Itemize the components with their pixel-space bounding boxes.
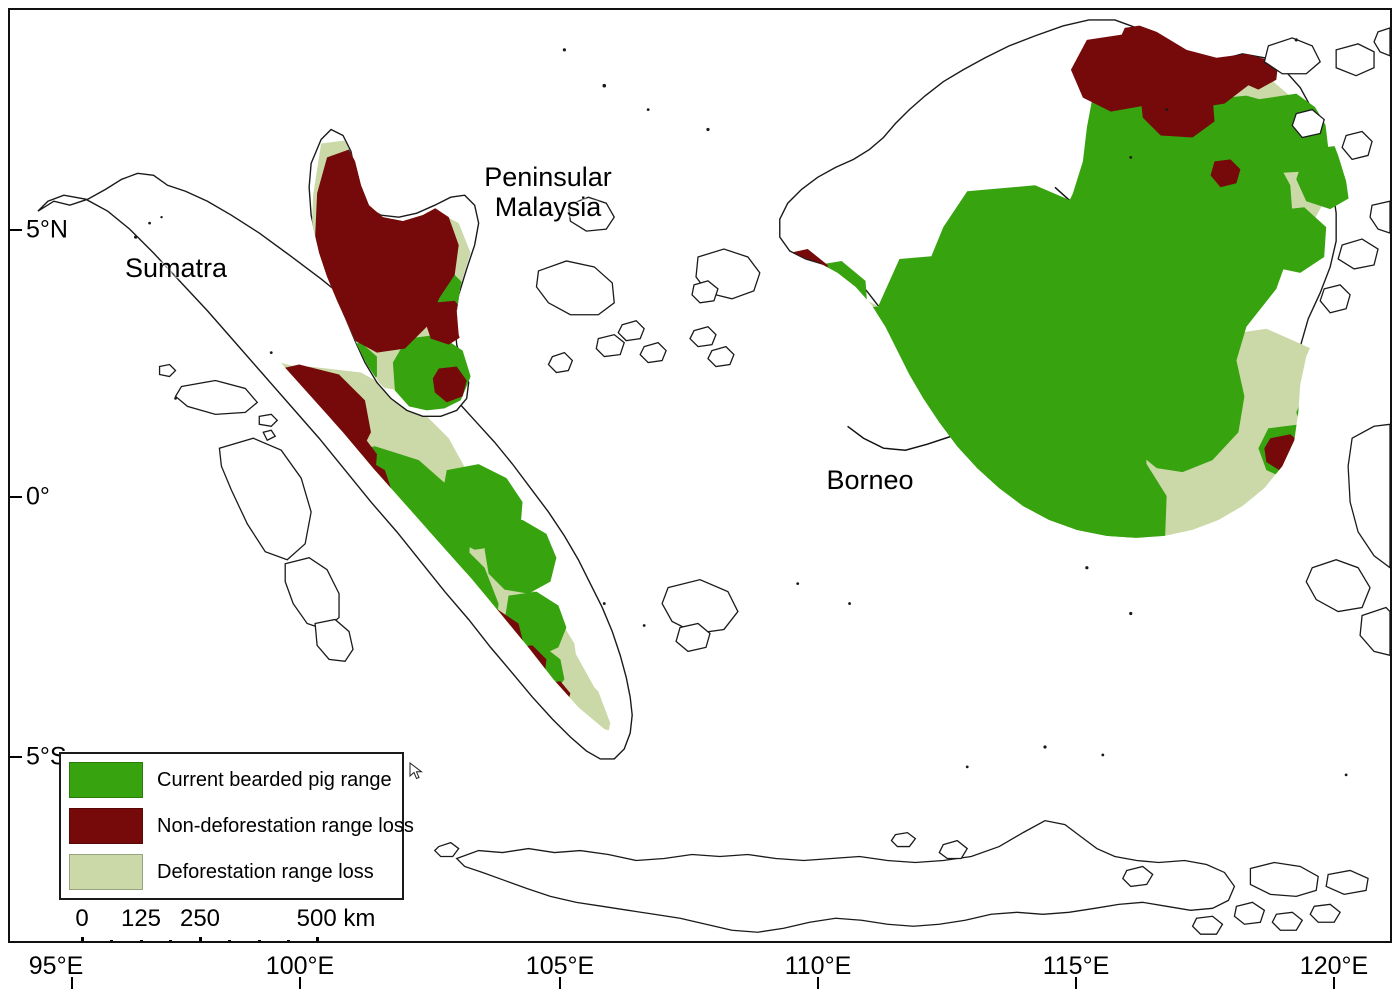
scale-bar: 0 125 250 500 km xyxy=(59,905,389,960)
scalebar-tick-minor-125 xyxy=(140,940,143,956)
mouse-cursor-icon xyxy=(409,762,425,780)
legend-swatch-current-range xyxy=(69,762,143,798)
scalebar-tick-minor-187 xyxy=(169,940,172,956)
scalebar-tick-major-500 xyxy=(316,937,319,958)
legend-swatch-deforestation-loss xyxy=(69,854,143,890)
legend-label-current-range: Current bearded pig range xyxy=(157,769,392,792)
scalebar-tick-minor-375 xyxy=(258,940,261,956)
legend-item-non-deforestation-loss[interactable]: Non-deforestation range loss xyxy=(69,808,414,844)
lat-label-0: 0° xyxy=(26,483,50,512)
scalebar-tick-major-250 xyxy=(199,937,202,958)
legend-label-non-deforestation-loss: Non-deforestation range loss xyxy=(157,815,414,838)
legend-swatch-non-deforestation-loss xyxy=(69,808,143,844)
map-frame: Sumatra Peninsular Malaysia Borneo 5°N 0… xyxy=(8,8,1392,987)
legend-label-deforestation-loss: Deforestation range loss xyxy=(157,861,374,884)
scalebar-tick-minor-437 xyxy=(287,940,290,956)
legend-item-deforestation-loss[interactable]: Deforestation range loss xyxy=(69,854,374,890)
scalebar-tick-minor-312 xyxy=(228,940,231,956)
scalebar-label-500: 500 km xyxy=(297,905,376,933)
lat-tick-5s xyxy=(10,756,22,758)
map-legend[interactable]: Current bearded pig range Non-deforestat… xyxy=(59,752,404,900)
lat-label-5n: 5°N xyxy=(26,216,68,245)
scalebar-label-0: 0 xyxy=(75,905,88,933)
scalebar-tick-major-0 xyxy=(81,937,84,958)
scalebar-label-250: 250 xyxy=(180,905,220,933)
scalebar-tick-minor-62 xyxy=(110,940,113,956)
lat-tick-0 xyxy=(10,496,22,498)
place-label-borneo: Borneo xyxy=(800,465,940,495)
lat-tick-5n xyxy=(10,229,22,231)
place-label-sumatra: Sumatra xyxy=(86,253,266,283)
figure-root: Sumatra Peninsular Malaysia Borneo 5°N 0… xyxy=(0,0,1400,995)
legend-item-current-range[interactable]: Current bearded pig range xyxy=(69,762,392,798)
scalebar-label-125: 125 xyxy=(121,905,161,933)
place-label-peninsular-malaysia: Peninsular Malaysia xyxy=(448,162,648,222)
